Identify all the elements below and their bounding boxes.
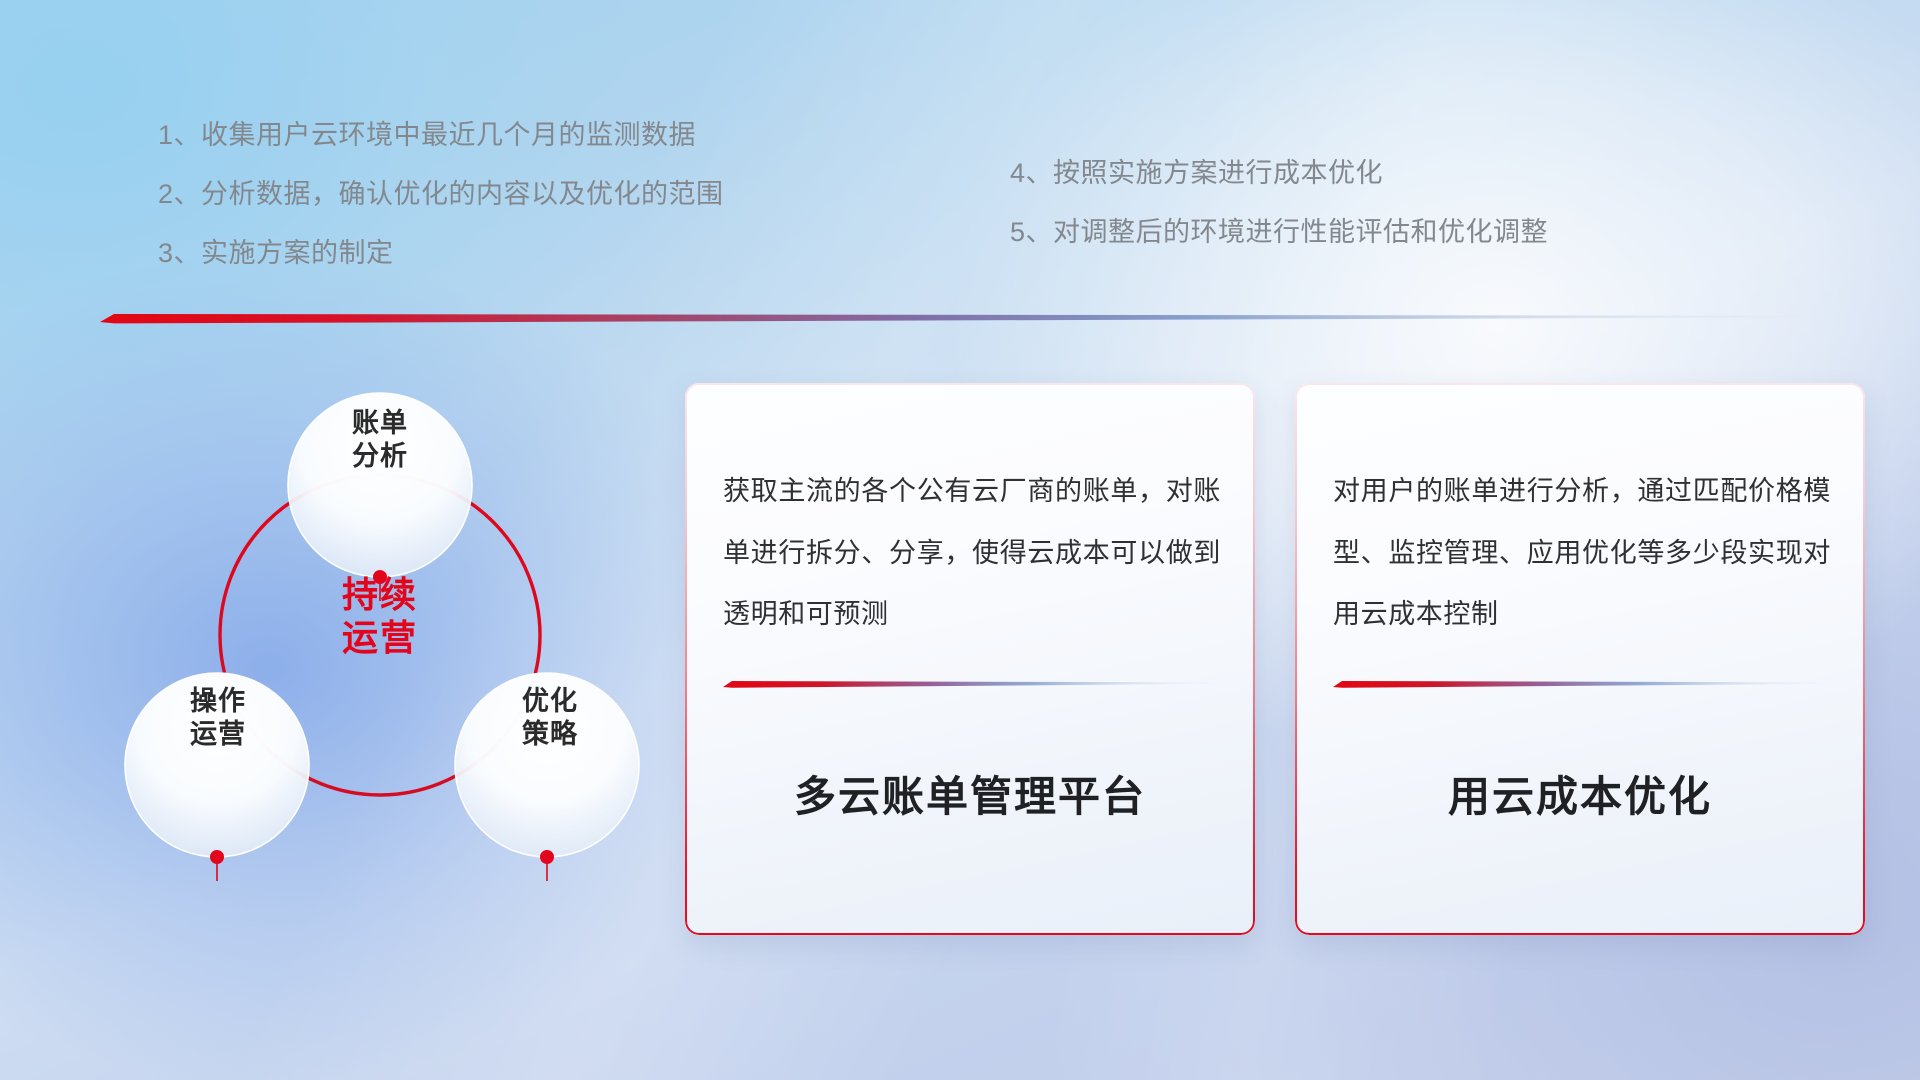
card-multi-cloud-billing-platform[interactable]: 获取主流的各个公有云厂商的账单，对账单进行拆分、分享，使得云成本可以做到透明和可… — [685, 383, 1255, 935]
card-cloud-cost-optimization[interactable]: 对用户的账单进行分析，通过匹配价格模型、监控管理、应用优化等多少段实现对用云成本… — [1295, 383, 1865, 935]
card-accent-rule — [1333, 679, 1829, 688]
card-body-text: 获取主流的各个公有云厂商的账单，对账单进行拆分、分享，使得云成本可以做到透明和可… — [723, 461, 1221, 646]
step-item-3: 3、实施方案的制定 — [158, 240, 724, 267]
step-item-1: 1、收集用户云环境中最近几个月的监测数据 — [158, 122, 724, 149]
venn-dot-top — [373, 570, 387, 584]
section-divider — [100, 310, 1800, 324]
venn-bubble-left — [125, 673, 309, 857]
card-title: 用云成本优化 — [1295, 763, 1865, 824]
steps-right-column: 4、按照实施方案进行成本优化 5、对调整后的环境进行性能评估和优化调整 — [1010, 160, 1548, 246]
card-body-text: 对用户的账单进行分析，通过匹配价格模型、监控管理、应用优化等多少段实现对用云成本… — [1333, 461, 1831, 646]
card-accent-rule — [723, 679, 1219, 688]
venn-graphic — [95, 345, 655, 945]
step-item-2: 2、分析数据，确认优化的内容以及优化的范围 — [158, 181, 724, 208]
card-title: 多云账单管理平台 — [685, 763, 1255, 824]
venn-dot-right — [540, 850, 554, 864]
venn-dot-left — [210, 850, 224, 864]
steps-left-column: 1、收集用户云环境中最近几个月的监测数据 2、分析数据，确认优化的内容以及优化的… — [158, 122, 724, 267]
continuous-operations-venn: 账单 分析 操作 运营 优化 策略 持续 运营 — [95, 345, 655, 945]
venn-bubble-top — [288, 393, 472, 577]
step-item-4: 4、按照实施方案进行成本优化 — [1010, 160, 1548, 187]
venn-bubble-right — [455, 673, 639, 857]
slide-canvas: 1、收集用户云环境中最近几个月的监测数据 2、分析数据，确认优化的内容以及优化的… — [0, 0, 1920, 1080]
step-item-5: 5、对调整后的环境进行性能评估和优化调整 — [1010, 219, 1548, 246]
